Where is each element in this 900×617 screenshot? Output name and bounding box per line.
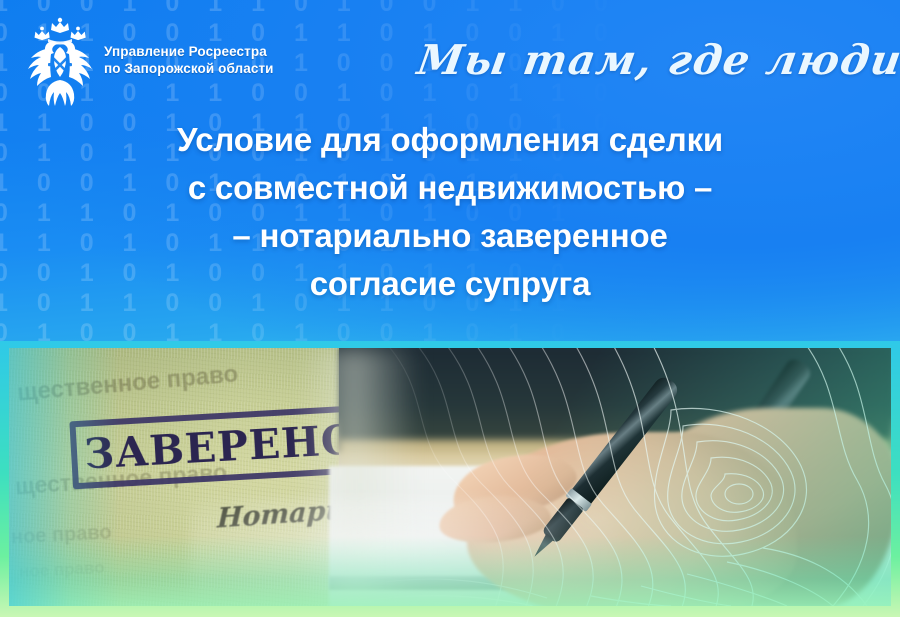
- left-cyan-wash: [9, 348, 119, 606]
- headline-line-4: согласие супруга: [0, 260, 900, 308]
- organization-name: Управление Росреестра по Запорожской обл…: [104, 44, 334, 77]
- slogan-text: Мы там, где люди: [434, 24, 885, 96]
- photo-strip: щественное право щественное право ное пр…: [0, 341, 900, 617]
- poster-canvas: 1 0 0 1 0 1 1 0 1 0 0 1 1 0 0 0 1 0 1 1 …: [0, 0, 900, 617]
- header-panel: 1 0 0 1 0 1 1 0 1 0 0 1 1 0 0 0 1 0 1 1 …: [0, 0, 900, 345]
- headline-line-1: Условие для оформления сделки: [0, 116, 900, 164]
- headline-line-2: с совместной недвижимостью –: [0, 164, 900, 212]
- organization-name-line-2: по Запорожской области: [104, 61, 334, 78]
- organization-name-line-1: Управление Росреестра: [104, 44, 334, 61]
- rosreestr-double-headed-eagle-icon: [12, 14, 108, 110]
- headline-line-3: – нотариально заверенное: [0, 212, 900, 260]
- bottom-green-wash: [9, 536, 891, 606]
- headline: Условие для оформления сделки с совместн…: [0, 116, 900, 308]
- photo-image: щественное право щественное право ное пр…: [9, 348, 891, 606]
